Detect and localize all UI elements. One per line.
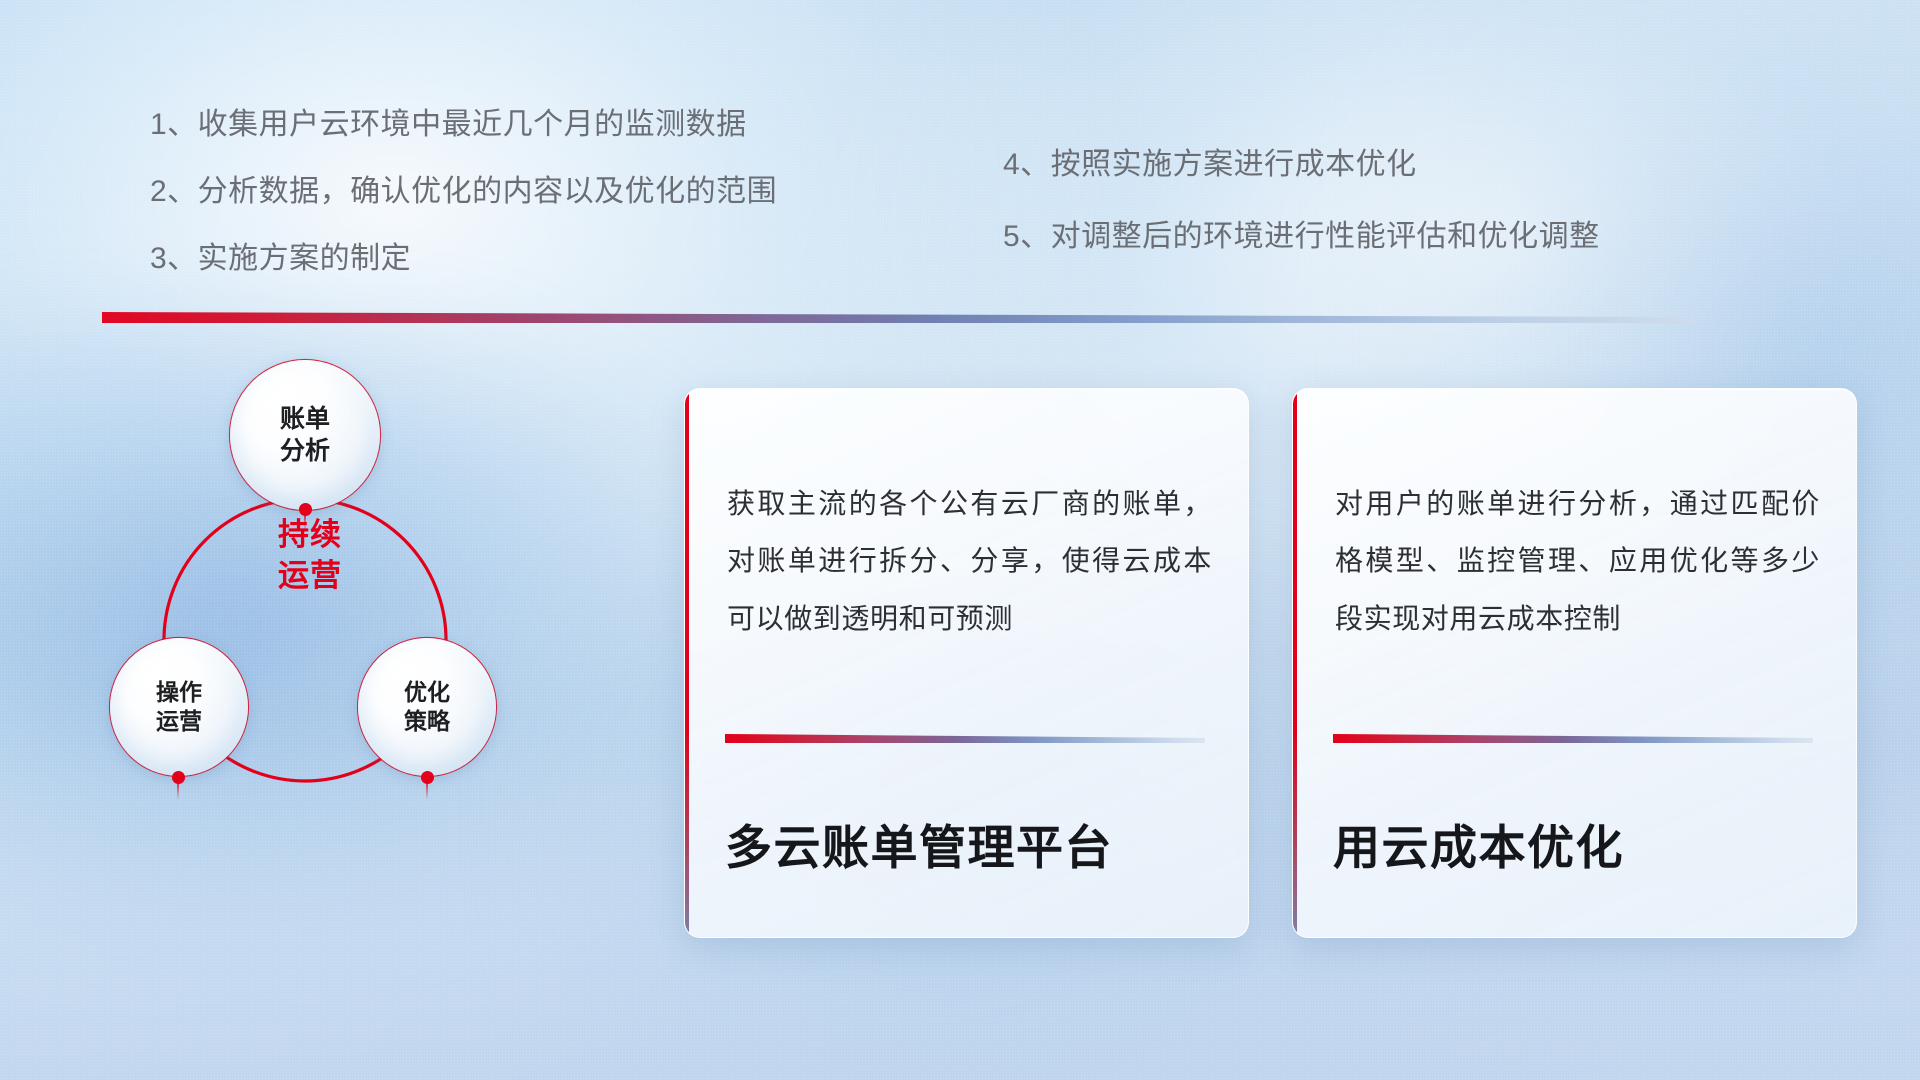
steps-right-column: 4、按照实施方案进行成本优化 5、对调整后的环境进行性能评估和优化调整 (1003, 150, 1600, 294)
venn-node-operations[interactable]: 操作 运营 (110, 638, 248, 776)
venn-node-label-line2: 策略 (404, 707, 450, 736)
step-item-1: 1、收集用户云环境中最近几个月的监测数据 (150, 110, 777, 140)
venn-node-billing-analysis[interactable]: 账单 分析 (230, 360, 380, 510)
card-body-text: 获取主流的各个公有云厂商的账单，对账单进行拆分、分享，使得云成本可以做到透明和可… (727, 475, 1212, 647)
card-left-accent-bar (685, 389, 689, 937)
venn-dot-bottom-right (421, 771, 434, 784)
step-item-5: 5、对调整后的环境进行性能评估和优化调整 (1003, 222, 1600, 252)
venn-connector-tail-bottom-left (177, 783, 179, 800)
venn-center-label-line2: 运营 (250, 556, 370, 597)
card-divider-line (725, 734, 1205, 743)
card-body-text: 对用户的账单进行分析，通过匹配价格模型、监控管理、应用优化等多少段实现对用云成本… (1335, 475, 1820, 647)
section-divider-line (102, 312, 1694, 323)
card-title: 多云账单管理平台 (725, 809, 1113, 878)
card-title: 用云成本优化 (1333, 809, 1624, 878)
step-item-2: 2、分析数据，确认优化的内容以及优化的范围 (150, 177, 777, 207)
step-item-4: 4、按照实施方案进行成本优化 (1003, 150, 1600, 180)
venn-connector-tail-bottom-right (426, 783, 428, 800)
venn-node-optimization-strategy[interactable]: 优化 策略 (358, 638, 496, 776)
steps-left-column: 1、收集用户云环境中最近几个月的监测数据 2、分析数据，确认优化的内容以及优化的… (150, 110, 777, 311)
continuous-operation-diagram: 账单 分析 操作 运营 优化 策略 持续 运营 (100, 360, 550, 780)
feature-card-cloud-cost-optimization[interactable]: 对用户的账单进行分析，通过匹配价格模型、监控管理、应用优化等多少段实现对用云成本… (1292, 388, 1857, 938)
venn-node-label-line1: 账单 (280, 403, 330, 435)
venn-node-label-line1: 优化 (404, 678, 450, 707)
venn-dot-bottom-left (172, 771, 185, 784)
feature-card-multicloud-billing[interactable]: 获取主流的各个公有云厂商的账单，对账单进行拆分、分享，使得云成本可以做到透明和可… (684, 388, 1249, 938)
step-item-3: 3、实施方案的制定 (150, 244, 777, 274)
card-divider-line (1333, 734, 1813, 743)
venn-node-label-line2: 分析 (280, 435, 330, 467)
venn-center-label: 持续 运营 (250, 515, 370, 597)
venn-connector-tail-top (304, 515, 306, 532)
slide-stage: 1、收集用户云环境中最近几个月的监测数据 2、分析数据，确认优化的内容以及优化的… (0, 0, 1920, 1080)
venn-dot-top (299, 503, 312, 516)
venn-center-label-line1: 持续 (250, 515, 370, 556)
card-left-accent-bar (1293, 389, 1297, 937)
venn-node-label-line2: 运营 (156, 707, 202, 736)
venn-node-label-line1: 操作 (156, 678, 202, 707)
